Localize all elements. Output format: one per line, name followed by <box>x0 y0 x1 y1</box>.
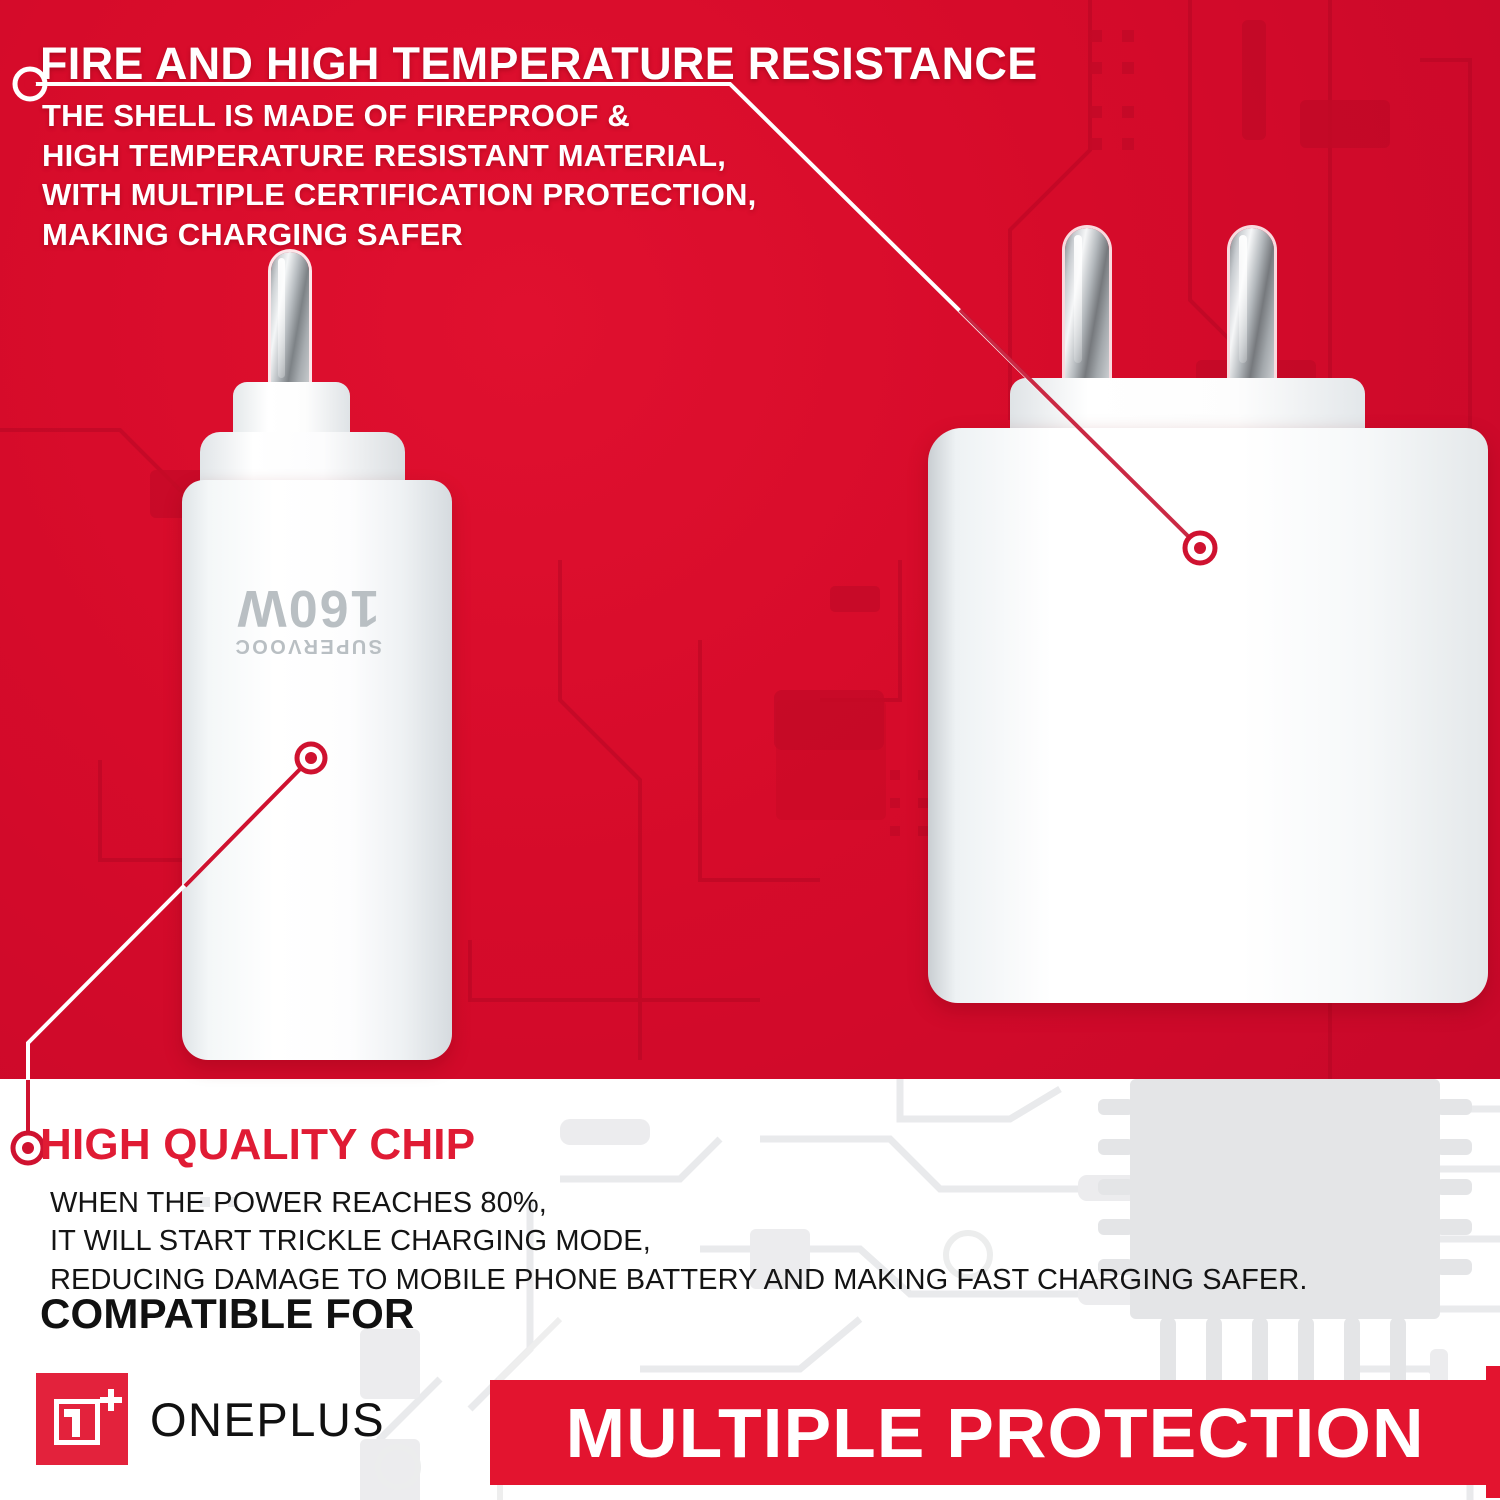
plug-prong-icon <box>271 252 309 402</box>
oneplus-mark-icon <box>36 1373 128 1465</box>
charger-body <box>182 480 452 1060</box>
multiple-protection-banner: MULTIPLE PROTECTION <box>490 1380 1500 1485</box>
oneplus-digit-one <box>72 1409 80 1437</box>
high-quality-chip-title: HIGH QUALITY CHIP <box>40 1120 475 1170</box>
desc-line: IT WILL START TRICKLE CHARGING MODE, <box>50 1222 1308 1260</box>
charger-body <box>928 428 1488 1003</box>
desc-line: HIGH TEMPERATURE RESISTANT MATERIAL, <box>42 136 756 176</box>
desc-line: THE SHELL IS MADE OF FIREPROOF & <box>42 96 756 136</box>
plug-prong-icon <box>1065 228 1109 388</box>
charger-wattage-label: SUPERVOOC 160W <box>215 582 400 660</box>
desc-line: WHEN THE POWER REACHES 80%, <box>50 1184 1308 1222</box>
multiple-protection-text: MULTIPLE PROTECTION <box>566 1393 1425 1473</box>
page-title: FIRE AND HIGH TEMPERATURE RESISTANCE <box>40 38 1038 90</box>
desc-line: WITH MULTIPLE CERTIFICATION PROTECTION, <box>42 175 756 215</box>
product-infographic: FIRE AND HIGH TEMPERATURE RESISTANCE THE… <box>0 0 1500 1500</box>
charger-right-front-view <box>928 228 1500 1018</box>
desc-line: MAKING CHARGING SAFER <box>42 215 756 255</box>
charger-technology-text: SUPERVOOC <box>215 634 400 657</box>
high-quality-chip-description: WHEN THE POWER REACHES 80%, IT WILL STAR… <box>50 1184 1308 1299</box>
fire-resistance-description: THE SHELL IS MADE OF FIREPROOF & HIGH TE… <box>42 96 756 255</box>
charger-left-side-view: SUPERVOOC 160W <box>160 252 460 1062</box>
banner-edge-tab <box>1486 1366 1500 1498</box>
oneplus-logo: ONEPLUS <box>36 1373 385 1465</box>
compatible-for-label: COMPATIBLE FOR <box>40 1290 415 1338</box>
plug-prong-icon <box>1230 228 1274 388</box>
charger-wattage-text: 160W <box>215 582 400 634</box>
oneplus-plus-vertical <box>108 1389 114 1411</box>
oneplus-wordmark: ONEPLUS <box>150 1392 385 1447</box>
